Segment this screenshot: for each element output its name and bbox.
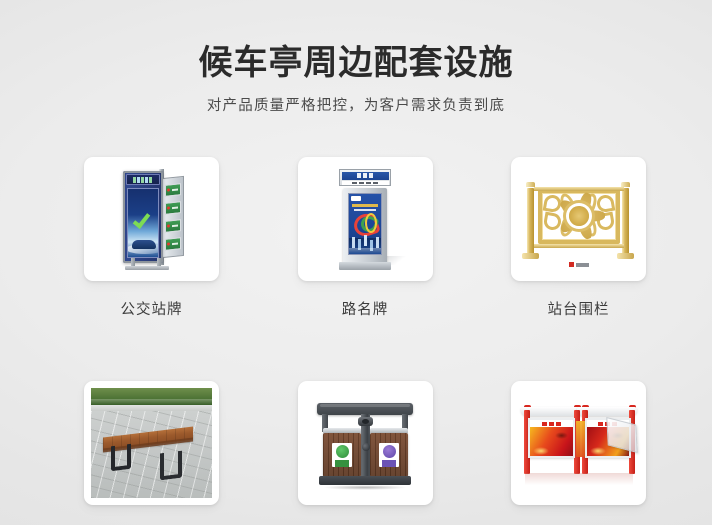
product-card-street-name-sign[interactable]: 路名牌 bbox=[298, 157, 433, 319]
page-header: 候车亭周边配套设施 对产品质量严格把控，为客户需求负责到底 bbox=[0, 44, 712, 115]
shelter-bench-photo bbox=[84, 381, 219, 505]
product-card-reading-board[interactable]: 阅报栏 bbox=[511, 381, 646, 525]
reading-board-icon bbox=[519, 397, 639, 489]
product-grid: 公交站牌 bbox=[84, 157, 646, 525]
product-card-shelter-bench[interactable]: 候车亭座椅 bbox=[84, 381, 219, 525]
product-image-frame[interactable] bbox=[84, 381, 219, 505]
bus-stop-sign-icon bbox=[115, 167, 189, 271]
trash-bin-icon bbox=[313, 395, 417, 491]
product-showcase-page: 候车亭周边配套设施 对产品质量严格把控，为客户需求负责到底 bbox=[0, 0, 712, 525]
product-card-platform-fence[interactable]: 站台围栏 bbox=[511, 157, 646, 319]
bus-stop-sign-image bbox=[84, 157, 219, 281]
route-panel-stack bbox=[162, 176, 184, 258]
bench-photo-icon bbox=[91, 388, 212, 498]
product-image-frame[interactable] bbox=[511, 157, 646, 281]
product-card-bus-stop-sign[interactable]: 公交站牌 bbox=[84, 157, 219, 319]
platform-fence-icon bbox=[521, 173, 637, 265]
other-waste-label-icon bbox=[379, 443, 399, 467]
product-image-frame[interactable] bbox=[298, 157, 433, 281]
product-label: 路名牌 bbox=[298, 298, 433, 319]
street-name-sign-image bbox=[298, 157, 433, 281]
product-image-frame[interactable] bbox=[298, 381, 433, 505]
trash-bin-image bbox=[298, 381, 433, 505]
product-label: 站台围栏 bbox=[511, 298, 646, 319]
product-card-trash-bin[interactable]: 垃圾箱 bbox=[298, 381, 433, 525]
fence-watermark bbox=[569, 262, 589, 267]
street-name-sign-icon bbox=[327, 167, 403, 271]
recyclable-label-icon bbox=[332, 443, 352, 467]
page-title: 候车亭周边配套设施 bbox=[0, 44, 712, 82]
product-label: 公交站牌 bbox=[84, 298, 219, 319]
page-subtitle: 对产品质量严格把控，为客户需求负责到底 bbox=[0, 94, 712, 115]
platform-fence-image bbox=[511, 157, 646, 281]
reading-board-image bbox=[511, 381, 646, 505]
product-image-frame[interactable] bbox=[84, 157, 219, 281]
product-image-frame[interactable] bbox=[511, 381, 646, 505]
